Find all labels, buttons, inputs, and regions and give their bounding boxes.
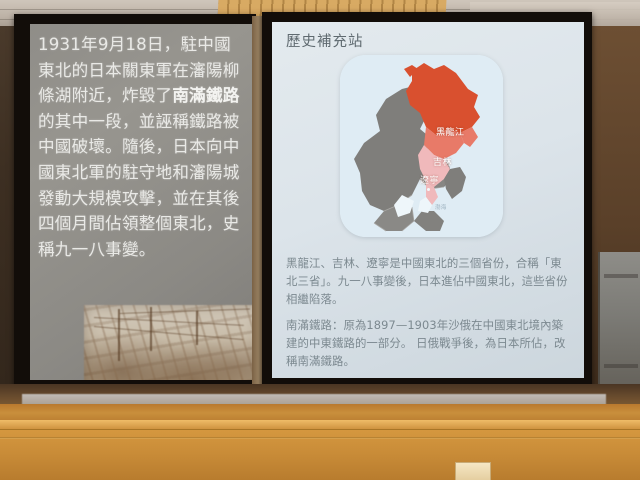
classroom-scene: 1931年9月18日，駐中國東北的日本關東軍在瀋陽柳條湖附近，炸毀了南滿鐵路的其… xyxy=(0,0,640,480)
right-paragraph-1: 黑龍江、吉林、遼寧是中國東北的三個省份，合稱「東北三省」。九一八事變後，日本進佔… xyxy=(286,254,572,308)
podium-label-card xyxy=(455,462,491,480)
podium-lip xyxy=(0,420,640,430)
map-card: 黑龍江 吉林 遼寧 渤海 xyxy=(340,55,503,237)
capital-dot xyxy=(427,188,430,191)
left-text-part2: 的其中一段，並誣稱鐵路被中國破壞。隨後，日本向中國東北軍的駐守地和瀋陽城發動大規… xyxy=(38,112,240,259)
historical-photo xyxy=(84,305,252,380)
left-text-bold-term: 南滿鐵路 xyxy=(172,86,239,105)
right-slide-title: 歷史補充站 xyxy=(286,30,364,51)
slide-right: 歷史補充站 xyxy=(272,22,584,378)
right-paragraph-2: 南滿鐵路：原為1897—1903年沙俄在中國東北境內築建的中東鐵路的一部分。 日… xyxy=(286,316,572,370)
left-slide-paragraph: 1931年9月18日，駐中國東北的日本關東軍在瀋陽柳條湖附近，炸毀了南滿鐵路的其… xyxy=(38,32,244,262)
map-label-sea: 渤海 xyxy=(435,203,447,211)
china-northeast-map-svg xyxy=(340,55,503,237)
slide-left: 1931年9月18日，駐中國東北的日本關東軍在瀋陽柳條湖附近，炸毀了南滿鐵路的其… xyxy=(30,24,252,380)
podium-groove xyxy=(0,437,640,439)
